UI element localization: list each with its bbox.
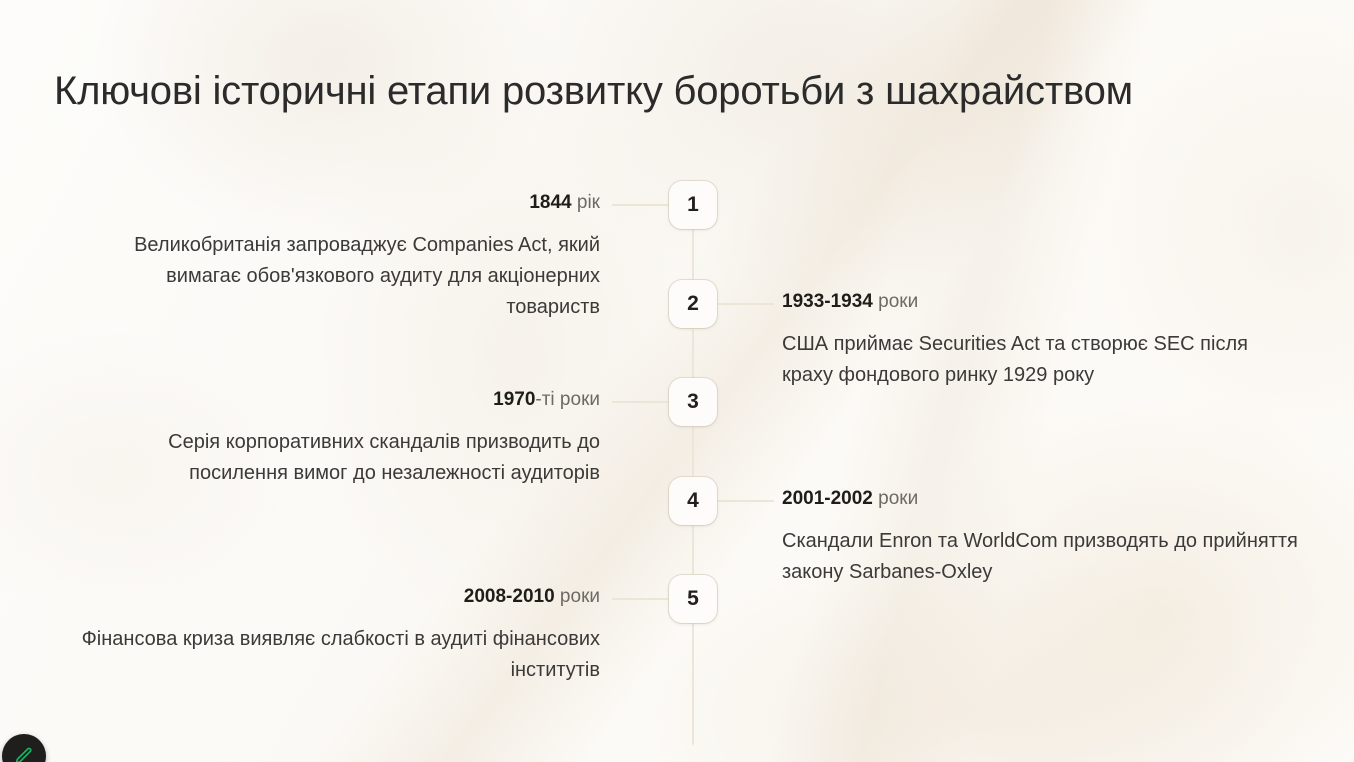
timeline-connector-3 bbox=[612, 401, 674, 403]
timeline-entry-year-value-5: 2008-2010 bbox=[464, 586, 555, 607]
timeline-entry-year-unit-1: рік bbox=[572, 192, 600, 213]
timeline-node-3[interactable]: 3 bbox=[669, 378, 717, 426]
timeline-entry-1: 1844 рікВеликобританія запроваджує Compa… bbox=[80, 190, 600, 323]
timeline-entry-year-value-1: 1844 bbox=[529, 192, 571, 213]
timeline-node-2[interactable]: 2 bbox=[669, 280, 717, 328]
timeline-connector-1 bbox=[612, 204, 674, 206]
timeline-entry-description-5: Фінансова криза виявляє слабкості в ауди… bbox=[80, 624, 600, 686]
timeline-entry-2: 1933-1934 рокиСША приймає Securities Act… bbox=[782, 289, 1302, 391]
timeline-entry-year-4: 2001-2002 роки bbox=[782, 486, 1302, 512]
page-title: Ключові історичні етапи розвитку боротьб… bbox=[54, 65, 1133, 117]
slide-canvas: Ключові історичні етапи розвитку боротьб… bbox=[0, 0, 1354, 762]
timeline-entry-description-2: США приймає Securities Act та створює SE… bbox=[782, 329, 1302, 391]
timeline-entry-year-value-3: 1970 bbox=[493, 389, 535, 410]
timeline-entry-year-unit-2: роки bbox=[873, 291, 918, 312]
timeline-entry-3: 1970-ті рокиСерія корпоративних скандалі… bbox=[80, 387, 600, 489]
timeline-entry-4: 2001-2002 рокиСкандали Enron та WorldCom… bbox=[782, 486, 1302, 588]
timeline-entry-year-unit-4: роки bbox=[873, 488, 918, 509]
timeline-node-4[interactable]: 4 bbox=[669, 477, 717, 525]
timeline-entry-5: 2008-2010 рокиФінансова криза виявляє сл… bbox=[80, 584, 600, 686]
pencil-icon bbox=[14, 746, 34, 762]
timeline-entry-year-value-2: 1933-1934 bbox=[782, 291, 873, 312]
timeline-entry-year-unit-3: -ті роки bbox=[535, 389, 600, 410]
timeline-connector-4 bbox=[712, 500, 774, 502]
timeline-entry-year-2: 1933-1934 роки bbox=[782, 289, 1302, 315]
timeline-entry-year-unit-5: роки bbox=[555, 586, 600, 607]
timeline-entry-year-3: 1970-ті роки bbox=[80, 387, 600, 413]
timeline-connector-5 bbox=[612, 598, 674, 600]
timeline-entry-year-5: 2008-2010 роки bbox=[80, 584, 600, 610]
timeline-connector-2 bbox=[712, 303, 774, 305]
timeline-entry-year-value-4: 2001-2002 bbox=[782, 488, 873, 509]
timeline-entry-description-1: Великобританія запроваджує Companies Act… bbox=[80, 230, 600, 323]
timeline-node-5[interactable]: 5 bbox=[669, 575, 717, 623]
timeline-entry-description-3: Серія корпоративних скандалів призводить… bbox=[80, 427, 600, 489]
timeline-entry-description-4: Скандали Enron та WorldCom призводять до… bbox=[782, 526, 1302, 588]
timeline-entry-year-1: 1844 рік bbox=[80, 190, 600, 216]
timeline-node-1[interactable]: 1 bbox=[669, 181, 717, 229]
